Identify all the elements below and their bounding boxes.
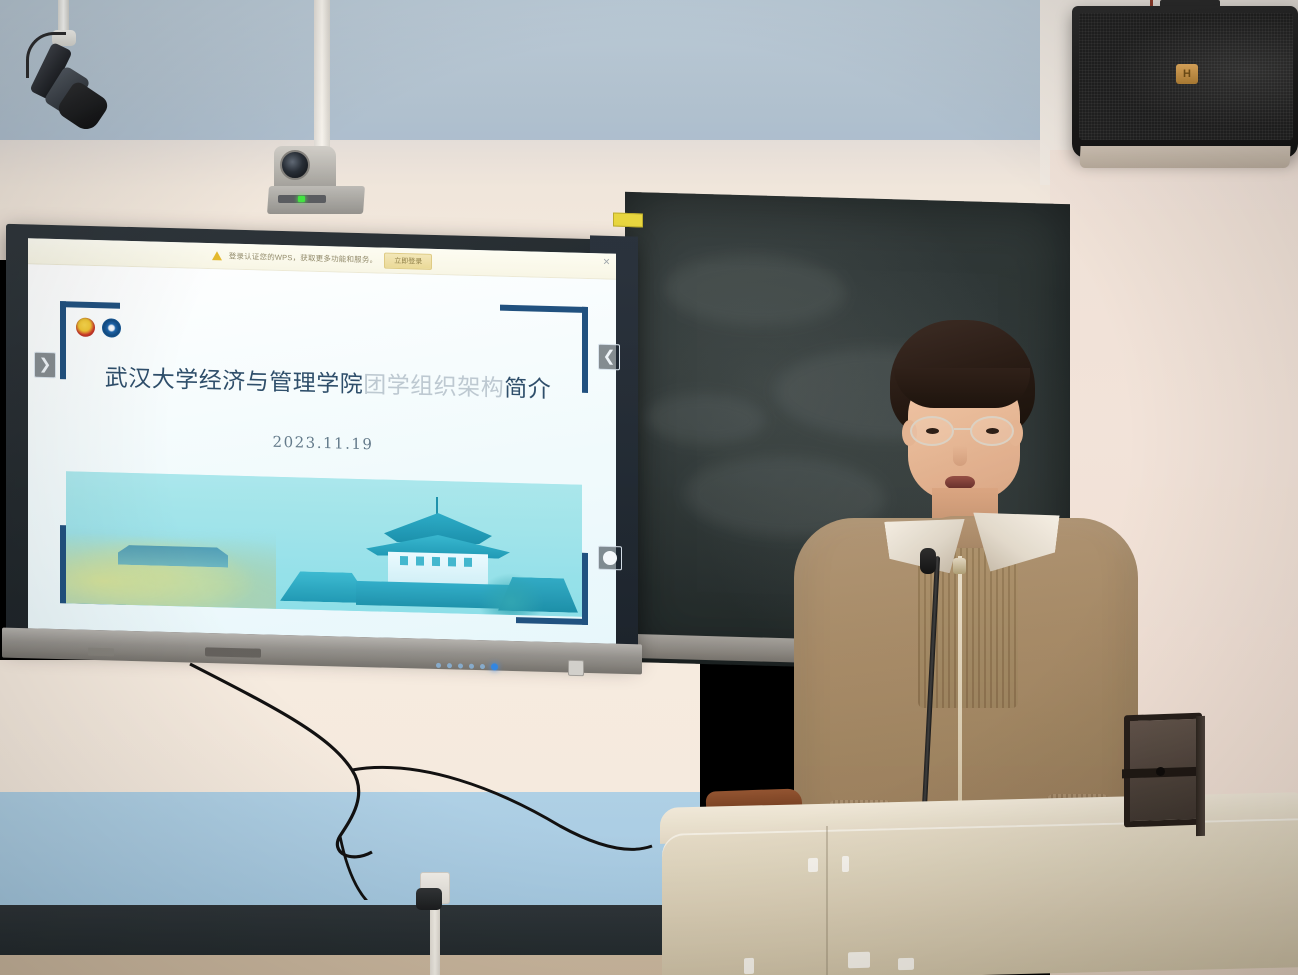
photo-window [448,557,456,566]
lectern-front-panel [662,818,1298,975]
slide-corner-top-right-h [500,305,588,313]
photo-window [400,556,408,565]
slide-title: 武汉大学经济与管理学院团学组织架构简介 [84,364,572,405]
slide-corner-bottom-right-v [582,553,588,625]
wall-dado-base [0,955,700,975]
slide-title-tail: 简介 [504,376,551,403]
cable-conduit [430,900,440,975]
slide-photo-wuhan-university [66,471,582,617]
wall-loudspeaker: H [1072,6,1298,158]
lectern-scuff [808,858,818,872]
slide-corner-top-left-h [60,301,120,309]
slide-corner-bottom-right-h [516,617,588,625]
lectern-microphone-capsule [920,548,936,574]
display-screen[interactable]: 登录认证您的WPS，获取更多功能和服务。 立即登录 × 武汉大学经济与管理学院团… [28,238,616,643]
photo-window [432,557,440,566]
slide-content: 武汉大学经济与管理学院团学组织架构简介 2023.11.19 [44,275,602,636]
camera-support-pole [314,0,330,160]
photo-window [416,556,424,565]
presenter-eye-right [986,428,999,434]
classroom-scene: 登录认证您的WPS，获取更多功能和服务。 立即登录 × 武汉大学经济与管理学院团… [0,0,1298,975]
presenter [790,320,1140,860]
power-plug [416,888,442,910]
photo-trees [66,525,276,608]
lectern-scuff [744,958,754,974]
presenter-nose [953,446,967,466]
slide-title-main: 武汉大学经济与管理学院 [105,365,364,398]
laser-pointer-button[interactable] [598,546,622,571]
photo-spire [436,497,438,515]
photo-foreground-trees [476,570,546,616]
lectern-scuff [898,958,914,970]
pointer-dot-icon [603,551,617,565]
wps-notice-text: 登录认证您的WPS，获取更多功能和服务。 [229,251,378,266]
slide-next-button[interactable]: ❯ [34,352,56,379]
presenter-eye-left [926,428,939,434]
presenter-hair-fringe [894,368,1030,408]
equipment-label-sticker-right [613,212,643,227]
speaker-base [1079,146,1290,168]
lectern-scuff [848,952,870,969]
slide-logos [76,318,121,338]
glasses-icon [906,416,1024,446]
wps-login-button[interactable]: 立即登录 [384,252,432,269]
office-chair-post [1196,716,1205,836]
slide-corner-top-right-v [582,307,588,393]
slide-prev-button[interactable]: ❮ [598,344,620,371]
lectern-scuff [842,856,849,872]
glasses-bridge [954,428,972,430]
photo-window [464,558,472,567]
communist-youth-league-emblem-icon [76,318,95,337]
slide-title-faded: 团学组织架构 [363,372,504,402]
warning-icon [212,251,222,260]
wuhan-university-seal-icon [102,318,121,337]
slide-corner-top-left-v [60,301,66,379]
presenter-zipper-pull [953,558,966,574]
camera-status-led [298,196,305,202]
camera-lens-icon [280,150,310,180]
close-icon[interactable]: × [603,255,610,267]
speaker-brand-badge: H [1176,64,1198,84]
presentation-slide: 武汉大学经济与管理学院团学组织架构简介 2023.11.19 [28,264,616,643]
lectern-panel-seam [826,826,828,975]
power-cables [0,640,700,900]
slide-date: 2023.11.19 [44,427,602,460]
